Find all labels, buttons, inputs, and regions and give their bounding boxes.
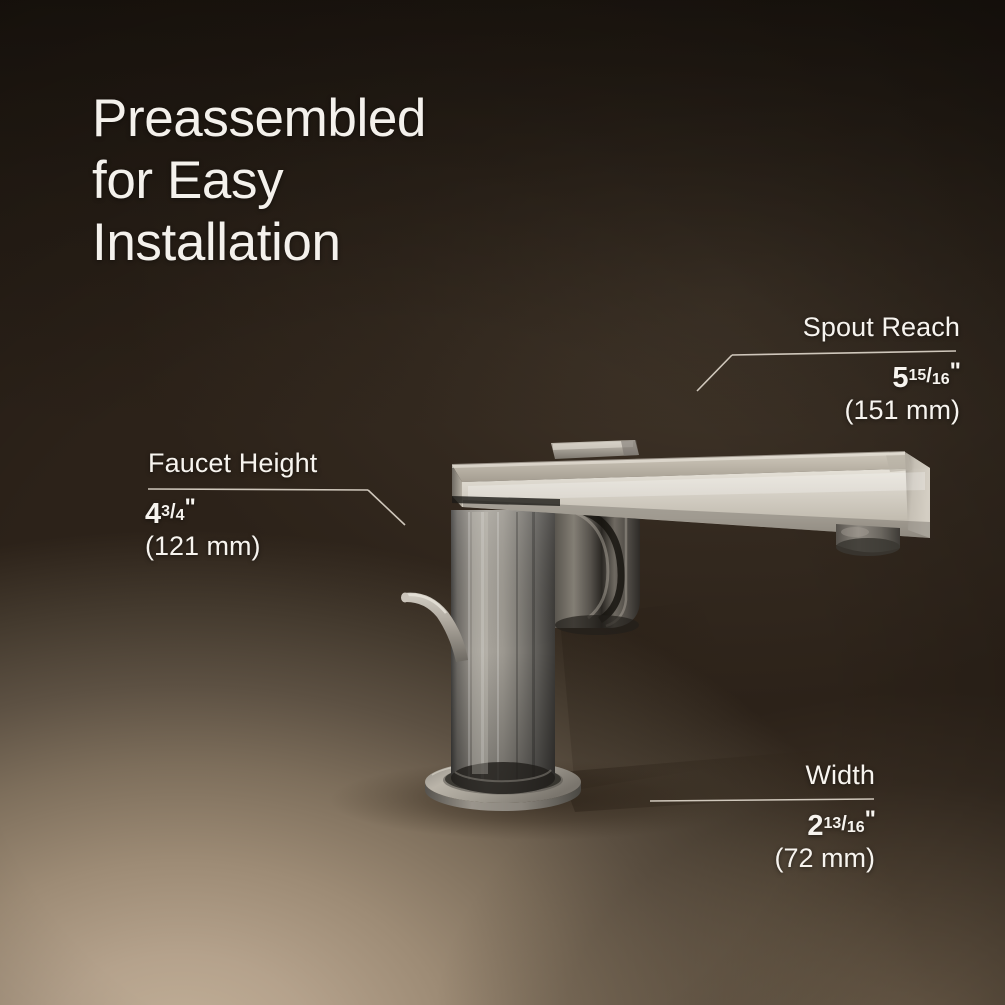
callout-width-value: 213/16" (620, 810, 875, 843)
callout-width-metric: (72 mm) (620, 843, 875, 874)
callout-width-values: 213/16" (72 mm) (620, 810, 875, 874)
product-dimension-graphic: Preassembled for Easy Installation Spout… (0, 0, 1005, 1005)
